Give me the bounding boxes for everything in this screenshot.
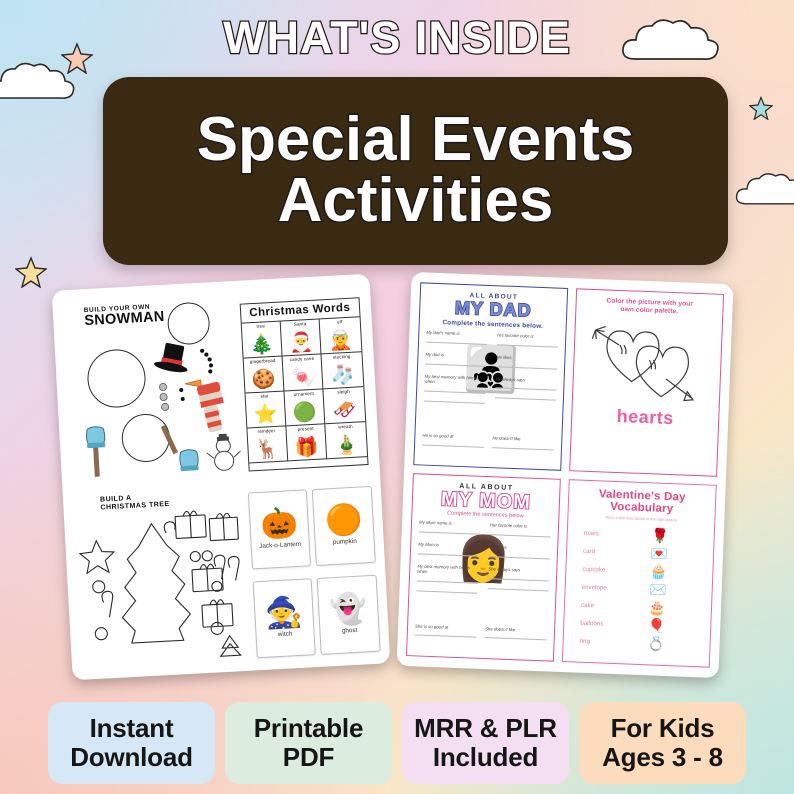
halloween-card: 🧙 witch: [252, 578, 316, 658]
hearts-word-label: hearts: [579, 405, 712, 431]
valentine-card-icon: 💌: [650, 546, 668, 561]
form-field: He always says: [495, 376, 557, 401]
valentines-vocabulary-worksheet: Valentine's Day Vocabulary Write a few l…: [562, 479, 717, 668]
form-field: She is so good at: [415, 623, 477, 638]
envelope-icon: ✉️: [649, 582, 667, 597]
badge-for-kids-ages[interactable]: For Kids Ages 3 - 8: [579, 702, 746, 784]
badge-line-2: Ages 3 - 8: [602, 743, 723, 772]
word-cell: sleigh🛷: [324, 387, 365, 424]
form-field: My dad's name is: [426, 329, 487, 344]
title-line-2: Activities: [278, 171, 554, 232]
reindeer-icon: 🦌: [255, 440, 280, 460]
snowman-pieces: [61, 291, 241, 492]
all-about-my-mom-worksheet: ALL ABOUT MY MOM Complete the sentences …: [406, 473, 561, 662]
word-cell: wreath🎍: [326, 422, 367, 459]
word-cell: elf🧝: [320, 317, 361, 354]
sleigh-icon: 🛷: [332, 401, 357, 421]
build-christmas-tree-activity: BUILD A CHRISTMAS TREE: [72, 485, 251, 674]
christmas-words-activity: Christmas Words tree🎄 Santa🎅 elf🧝 ginger…: [237, 284, 372, 482]
form-field: My Mom is: [418, 542, 479, 557]
dad-title: MY DAD: [427, 298, 560, 322]
badge-line-2: Included: [433, 743, 538, 772]
word-cell: ornament🟢: [284, 389, 325, 426]
word-cell: star⭐: [245, 391, 286, 428]
gingerbread-man-icon: 🍪: [251, 370, 276, 390]
pumpkin-icon: 🟠: [324, 505, 363, 537]
form-field: My dad is: [425, 351, 486, 366]
build-snowman-activity: BUILD YOUR OWN SNOWMAN: [61, 291, 241, 492]
cake-icon: 🎂: [648, 600, 666, 615]
stocking-icon: 🧦: [330, 366, 355, 386]
title-line-1: Special Events: [197, 110, 635, 171]
form-field: Her favorite color is: [490, 523, 551, 538]
santa-icon: 🎅: [289, 333, 314, 353]
valentine-word-list: roses🌹 card💌 cupcake🧁 envelope✉️ cake🎂 b…: [570, 523, 707, 654]
star-icon-top-right: [749, 96, 773, 120]
two-hearts-with-arrow-icon: [580, 313, 715, 410]
word-cell: reindeer🦌: [247, 426, 288, 463]
worksheet-page-left[interactable]: BUILD YOUR OWN SNOWMAN: [52, 274, 391, 681]
cloud-icon-right-middle: [734, 168, 794, 210]
ring-icon: 💍: [647, 636, 665, 651]
hearts-coloring-worksheet: Color the picture with your own color pa…: [569, 288, 724, 477]
word-cell: tree🎄: [241, 322, 282, 359]
form-field: My best memory with her is when: [416, 564, 478, 595]
form-field: She always says: [488, 566, 550, 591]
word-cell: present🎁: [286, 424, 327, 461]
all-about-my-dad-worksheet: ALL ABOUT MY DAD Complete the sentences …: [413, 282, 568, 471]
badge-line-1: Printable: [254, 714, 363, 743]
badge-printable-pdf[interactable]: Printable PDF: [225, 702, 392, 784]
tree-pieces: [73, 507, 253, 666]
halloween-card: 🎃 Jack-o-Lantern: [248, 489, 312, 569]
list-item: ring💍: [570, 631, 703, 654]
halloween-card: 🟠 pumpkin: [312, 486, 376, 566]
form-field: My Mom name is: [419, 520, 480, 535]
badge-mrr-plr-included[interactable]: MRR & PLR Included: [402, 702, 569, 784]
star-icon-left-middle: [15, 256, 47, 288]
badge-line-2: PDF: [283, 743, 334, 772]
cloud-icon-top-left: [0, 58, 78, 104]
form-field: His favorite color is: [497, 332, 558, 347]
form-field: He likes: [496, 354, 557, 369]
badge-line-2: Download: [70, 743, 193, 772]
gift-icon: 🎁: [294, 438, 319, 458]
halloween-cards: 🎃 Jack-o-Lantern 🟠 pumpkin 🧙 witch 👻 gho…: [247, 478, 381, 664]
form-field: He is so good at: [422, 433, 484, 448]
valentine-title: Valentine's Day Vocabulary: [576, 487, 709, 516]
worksheet-page-right[interactable]: ALL ABOUT MY DAD Complete the sentences …: [397, 272, 734, 678]
feature-badges: Instant Download Printable PDF MRR & PLR…: [0, 702, 794, 784]
christmas-tree-icon: 🎄: [249, 335, 274, 355]
badge-line-1: MRR & PLR: [414, 714, 557, 743]
form-field: She likes: [489, 544, 550, 559]
jack-o-lantern-icon: 🎃: [260, 509, 299, 541]
badge-line-1: Instant: [90, 714, 174, 743]
badge-line-1: For Kids: [611, 714, 715, 743]
cupcake-icon: 🧁: [650, 564, 668, 579]
elf-icon: 🧝: [328, 331, 353, 351]
candy-cane-icon: 🍬: [291, 368, 316, 388]
form-field: He doesn't like: [492, 435, 554, 450]
word-cell: Santa🎅: [281, 319, 322, 356]
word-cell: gingerbread🍪: [243, 356, 284, 393]
form-field: She doesn't like: [485, 626, 547, 641]
balloons-icon: 🎈: [648, 618, 666, 633]
badge-instant-download[interactable]: Instant Download: [48, 702, 215, 784]
ghost-icon: 👻: [329, 594, 368, 626]
wreath-icon: 🎍: [334, 436, 359, 456]
witch-icon: 🧙: [265, 597, 304, 629]
word-cell: candy cane🍬: [283, 354, 324, 391]
title-card: Special Events Activities: [103, 77, 728, 265]
star-icon: ⭐: [253, 405, 278, 425]
word-cell: stocking🧦: [322, 352, 363, 389]
ornament-icon: 🟢: [293, 403, 318, 423]
form-field: My best memory with him is when: [424, 373, 486, 404]
halloween-card: 👻 ghost: [317, 574, 381, 654]
christmas-words-grid: tree🎄 Santa🎅 elf🧝 gingerbread🍪 candy can…: [241, 317, 366, 463]
page-kicker: WHAT'S INSIDE: [0, 12, 794, 64]
roses-icon: 🌹: [651, 528, 669, 543]
